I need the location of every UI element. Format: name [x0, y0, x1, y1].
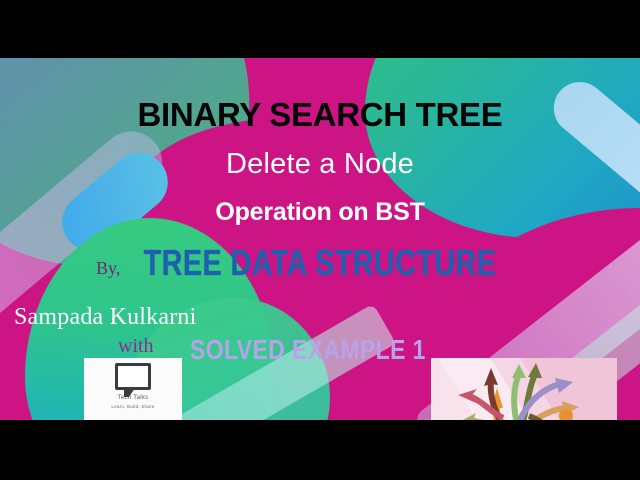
letterbox-bar-bottom: [0, 420, 640, 480]
branching-arrows-illustration: [431, 358, 617, 420]
tech-talks-logo-card: Tech Talks Learn, Build, Share: [84, 358, 182, 420]
letterbox-bar-top: [0, 0, 640, 58]
bubble-frame: [115, 363, 151, 390]
title-binary-search-tree: BINARY SEARCH TREE: [0, 96, 640, 134]
thumbnail-canvas: BINARY SEARCH TREE Delete a Node Operati…: [0, 58, 640, 420]
byline-label: By,: [96, 258, 120, 279]
subtitle-delete-a-node: Delete a Node: [0, 148, 640, 181]
subtitle-operation-on-bst: Operation on BST: [0, 198, 640, 227]
video-thumbnail-screen: BINARY SEARCH TREE Delete a Node Operati…: [0, 0, 640, 480]
author-name: Sampada Kulkarni: [14, 304, 197, 331]
with-label: with: [118, 335, 154, 358]
bubble-tail: [124, 388, 135, 397]
speech-bubble-monitor-icon: [115, 363, 151, 390]
logo-tagline: Learn, Build, Share: [111, 404, 154, 409]
solved-example-label: SOLVED EXAMPLE 1: [190, 334, 426, 366]
arrows-svg: [431, 358, 617, 420]
subtitle-tree-data-structure: TREE DATA STRUCTURE: [64, 242, 576, 284]
